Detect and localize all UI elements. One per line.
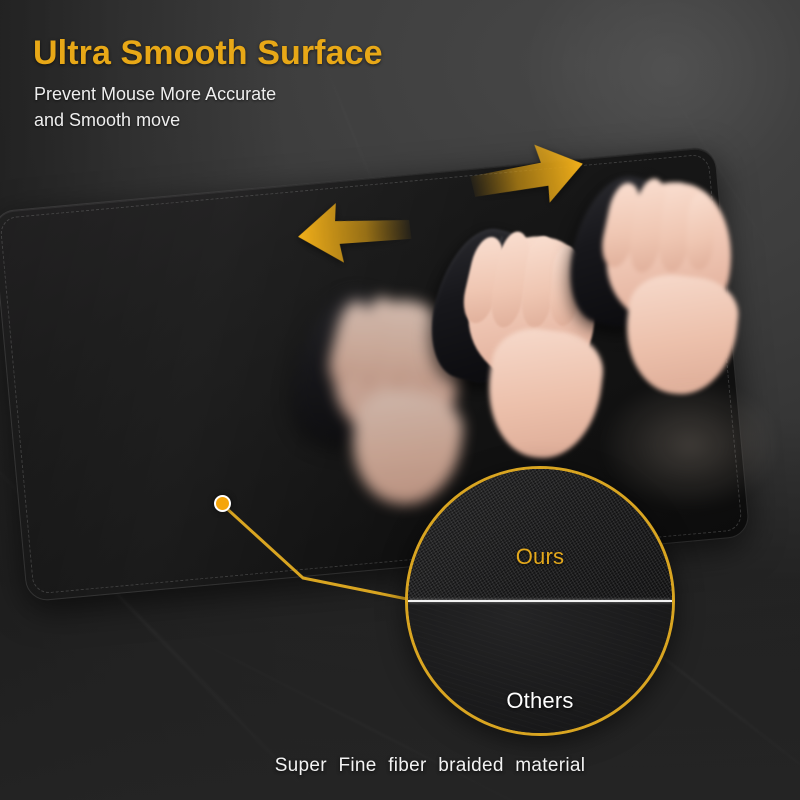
page-subtitle-line1: Prevent Mouse More Accurate bbox=[34, 82, 276, 108]
comparison-label-others: Others bbox=[408, 688, 672, 714]
page-subtitle-line2: and Smooth move bbox=[34, 108, 276, 134]
page-subtitle: Prevent Mouse More Accurate and Smooth m… bbox=[34, 82, 276, 133]
product-marketing-image: Ours Others Ultra Smooth Surface Prevent… bbox=[0, 0, 800, 800]
comparison-label-ours: Ours bbox=[408, 544, 672, 570]
callout-dot-icon bbox=[214, 495, 231, 512]
comparison-divider bbox=[408, 600, 672, 602]
page-title: Ultra Smooth Surface bbox=[33, 34, 383, 73]
material-caption: Super Fine fiber braided material bbox=[0, 755, 800, 777]
background-glow-hand bbox=[560, 350, 800, 540]
arrow-left-icon bbox=[290, 194, 415, 274]
